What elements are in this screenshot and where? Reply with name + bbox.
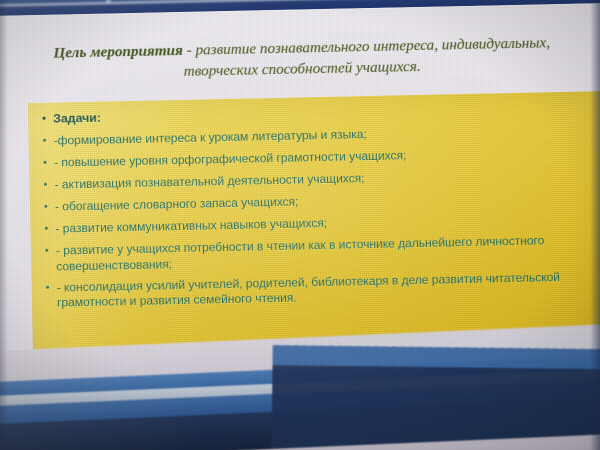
bullet-dot-icon: •	[43, 178, 54, 194]
bullet-dot-icon: •	[42, 134, 53, 150]
list-item-label: - развитие у учащихся потребности в чтен…	[56, 233, 600, 276]
slide-title-lead: Цель мероприятия	[53, 42, 183, 62]
list-item-label: - повышение уровня орфографической грамо…	[54, 145, 597, 172]
bullet-dot-icon: •	[44, 200, 55, 216]
bullet-dot-icon: •	[43, 156, 54, 172]
bullet-dot-icon: •	[45, 244, 56, 260]
list-item-label: - консолидация усилий учителей, родителе…	[57, 269, 600, 312]
bullet-dot-icon: •	[46, 280, 57, 296]
bullet-dot-icon: •	[42, 112, 53, 128]
bullet-dot-icon: •	[44, 222, 55, 238]
list-item-label: - активизация познавательной деятельност…	[54, 167, 597, 194]
list-item: • - консолидация усилий учителей, родите…	[46, 269, 600, 312]
slide-title-rest: - развитие познавательного интереса, инд…	[183, 34, 551, 80]
list-item-label: -формирование интереса к урокам литерату…	[53, 123, 596, 150]
list-item: • Задачи:	[42, 100, 596, 127]
list-item: • - развитие у учащихся потребности в чт…	[45, 233, 600, 276]
screenshot-root: Абзац Рисование Цель мероприятия - разви…	[0, 0, 600, 450]
bullet-list: • Задачи: • -формирование интереса к уро…	[42, 100, 600, 316]
band-diagonal-overlap	[271, 322, 600, 450]
slide-title: Цель мероприятия - развитие познавательн…	[29, 32, 576, 85]
list-item-label: Задачи:	[53, 100, 596, 127]
list-item-label: - обогащение словарного запаса учащихся;	[55, 189, 598, 216]
